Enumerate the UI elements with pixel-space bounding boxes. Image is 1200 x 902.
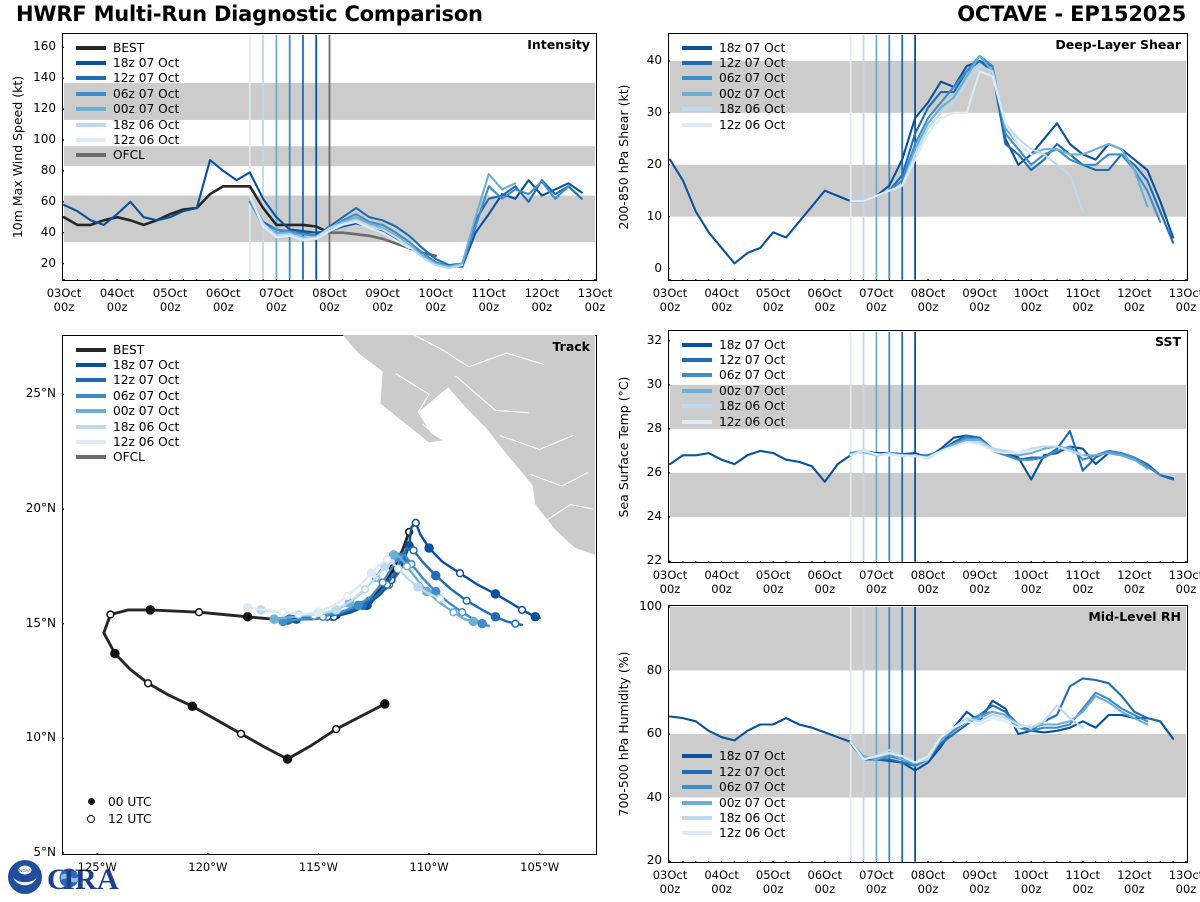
x-tick-label: 13Oct00z bbox=[1156, 286, 1200, 315]
y-tick-label: 40 bbox=[614, 53, 662, 67]
panel-shear[interactable]: Deep-Layer Shear18z 07 Oct12z 07 Oct06z … bbox=[668, 33, 1188, 281]
legend-label: 12z 07 Oct bbox=[113, 71, 179, 85]
legend-label: 18z 06 Oct bbox=[719, 102, 785, 116]
legend-color-swatch bbox=[76, 153, 106, 157]
track-point-00utc bbox=[146, 606, 154, 614]
track-point-12utc bbox=[437, 595, 444, 602]
legend-item[interactable]: 12z 07 Oct bbox=[682, 55, 785, 70]
legend-item[interactable]: BEST bbox=[76, 40, 179, 55]
x-tick-label: 115°W bbox=[288, 860, 348, 874]
legend-item[interactable]: 00z 07 Oct bbox=[682, 383, 785, 398]
x-tick-label: 03Oct00z bbox=[34, 286, 94, 315]
x-tick-label: 12Oct00z bbox=[512, 286, 572, 315]
legend-label: 18z 07 Oct bbox=[719, 749, 785, 763]
legend-item[interactable]: 12z 07 Oct bbox=[76, 373, 179, 388]
y-tick-label: 160 bbox=[8, 39, 56, 53]
legend-color-swatch bbox=[682, 754, 712, 758]
panel-sst[interactable]: SST18z 07 Oct12z 07 Oct06z 07 Oct00z 07 … bbox=[668, 330, 1188, 563]
legend-label: 12z 07 Oct bbox=[719, 56, 785, 70]
legend-label: 12z 06 Oct bbox=[719, 118, 785, 132]
legend-label: 12z 06 Oct bbox=[113, 133, 179, 147]
legend-color-swatch bbox=[76, 455, 106, 459]
legend-item[interactable]: 12z 06 Oct bbox=[76, 132, 179, 147]
track-point-12utc bbox=[459, 609, 466, 616]
track-point-00utc bbox=[491, 613, 499, 621]
legend-item[interactable]: 18z 06 Oct bbox=[76, 419, 179, 434]
legend-color-swatch bbox=[682, 123, 712, 127]
legend-color-swatch bbox=[76, 425, 106, 429]
x-tick-label: 08Oct00z bbox=[300, 286, 360, 315]
legend[interactable]: BEST18z 07 Oct12z 07 Oct06z 07 Oct00z 07… bbox=[76, 342, 179, 465]
legend-color-swatch bbox=[76, 76, 106, 80]
track-point-12utc bbox=[457, 570, 464, 577]
legend[interactable]: 18z 07 Oct12z 07 Oct06z 07 Oct00z 07 Oct… bbox=[682, 40, 785, 132]
track-point-00utc bbox=[390, 551, 398, 559]
legend-color-swatch bbox=[76, 348, 106, 352]
y-axis-label: 200-850 hPa Shear (kt) bbox=[616, 85, 631, 230]
legend-item[interactable]: 00z 07 Oct bbox=[682, 795, 785, 810]
track-point-00utc bbox=[332, 606, 340, 614]
legend-item[interactable]: OFCL bbox=[76, 450, 179, 465]
legend-item[interactable]: 12z 07 Oct bbox=[76, 71, 179, 86]
track-point-00utc bbox=[283, 755, 291, 763]
legend-color-swatch bbox=[76, 363, 106, 367]
track-point-00utc bbox=[478, 620, 486, 628]
track-point-12utc bbox=[333, 726, 340, 733]
panel-title: Deep-Layer Shear bbox=[1055, 37, 1181, 52]
legend-color-swatch bbox=[682, 420, 712, 424]
y-axis-label: 700-500 hPa Humidity (%) bbox=[616, 651, 631, 816]
track-point-12utc bbox=[384, 556, 391, 563]
legend-item[interactable]: 12z 07 Oct bbox=[682, 352, 785, 367]
legend-item[interactable]: 18z 07 Oct bbox=[682, 337, 785, 352]
legend-item[interactable]: 06z 07 Oct bbox=[682, 779, 785, 794]
track-line bbox=[248, 560, 394, 615]
storm-id-title: OCTAVE - EP152025 bbox=[957, 2, 1186, 26]
legend-label: OFCL bbox=[113, 148, 145, 162]
track-point-12utc bbox=[512, 620, 519, 627]
legend-label: 00z 07 Oct bbox=[719, 384, 785, 398]
legend-color-swatch bbox=[682, 404, 712, 408]
value-band bbox=[670, 165, 1186, 217]
track-point-00utc bbox=[111, 649, 119, 657]
legend-item[interactable]: 06z 07 Oct bbox=[76, 86, 179, 101]
legend-color-swatch bbox=[76, 394, 106, 398]
x-tick-label: 11Oct00z bbox=[459, 286, 519, 315]
track-point-12utc bbox=[379, 579, 386, 586]
marker-legend-item: 12 UTC bbox=[80, 810, 152, 827]
legend-color-swatch bbox=[76, 409, 106, 413]
basemap-landmass bbox=[270, 335, 595, 555]
legend-item[interactable]: 12z 06 Oct bbox=[682, 117, 785, 132]
legend-item[interactable]: 00z 07 Oct bbox=[76, 404, 179, 419]
y-tick-label: 100 bbox=[614, 599, 662, 613]
panel-title: SST bbox=[1155, 334, 1181, 349]
legend-label: 12z 07 Oct bbox=[719, 353, 785, 367]
track-point-00utc bbox=[414, 583, 422, 591]
page-title: HWRF Multi-Run Diagnostic Comparison bbox=[16, 2, 483, 26]
legend-label: 18z 06 Oct bbox=[719, 811, 785, 825]
legend-color-swatch bbox=[682, 373, 712, 377]
track-point-00utc bbox=[354, 601, 362, 609]
legend-item[interactable]: 18z 06 Oct bbox=[682, 810, 785, 825]
legend-label: BEST bbox=[113, 343, 144, 357]
legend-item[interactable]: 06z 07 Oct bbox=[76, 388, 179, 403]
x-tick-label: 05Oct00z bbox=[140, 286, 200, 315]
legend-color-swatch bbox=[76, 107, 106, 111]
y-axis-label: Sea Surface Temp (°C) bbox=[616, 376, 631, 517]
x-tick-label: 06Oct00z bbox=[193, 286, 253, 315]
marker-legend-label: 00 UTC bbox=[108, 795, 152, 809]
legend-item[interactable]: 12z 06 Oct bbox=[682, 826, 785, 841]
legend-item[interactable]: 18z 07 Oct bbox=[76, 357, 179, 372]
panel-title: Track bbox=[553, 339, 590, 354]
legend-item[interactable]: 18z 06 Oct bbox=[76, 117, 179, 132]
legend-color-swatch bbox=[682, 389, 712, 393]
x-tick-label: 10Oct00z bbox=[406, 286, 466, 315]
track-point-12utc bbox=[238, 730, 245, 737]
track-point-12utc bbox=[362, 586, 369, 593]
track-point-12utc bbox=[410, 547, 417, 554]
legend-color-swatch bbox=[682, 76, 712, 80]
legend-label: 12z 07 Oct bbox=[719, 765, 785, 779]
legend-item[interactable]: 18z 07 Oct bbox=[682, 40, 785, 55]
legend-item[interactable]: BEST bbox=[76, 342, 179, 357]
legend-label: 00z 07 Oct bbox=[719, 87, 785, 101]
x-tick-label: 07Oct00z bbox=[246, 286, 306, 315]
x-tick-label: 110°W bbox=[399, 860, 459, 874]
y-tick-label: 32 bbox=[614, 333, 662, 347]
legend-item[interactable]: 06z 07 Oct bbox=[682, 368, 785, 383]
marker-legend-label: 12 UTC bbox=[108, 812, 152, 826]
track-point-00utc bbox=[244, 604, 252, 612]
x-tick-label: 13Oct00z bbox=[565, 286, 625, 315]
panel-title: Intensity bbox=[527, 37, 590, 52]
legend-color-swatch bbox=[76, 440, 106, 444]
track-point-00utc bbox=[188, 702, 196, 710]
legend-label: 18z 07 Oct bbox=[113, 56, 179, 70]
x-tick-label: 13Oct00z bbox=[1156, 868, 1200, 897]
track-point-00utc bbox=[425, 544, 433, 552]
track-point-00utc bbox=[314, 608, 322, 616]
legend-item[interactable]: 12z 07 Oct bbox=[682, 764, 785, 779]
y-tick-label: 22 bbox=[614, 553, 662, 567]
legend-color-swatch bbox=[76, 123, 106, 127]
track-point-00utc bbox=[368, 569, 376, 577]
legend-color-swatch bbox=[682, 92, 712, 96]
track-point-00utc bbox=[244, 613, 252, 621]
legend[interactable]: BEST18z 07 Oct12z 07 Oct06z 07 Oct00z 07… bbox=[76, 40, 179, 163]
track-line bbox=[274, 555, 473, 622]
legend-color-swatch bbox=[682, 61, 712, 65]
y-axis-label: 10m Max Wind Speed (kt) bbox=[10, 76, 25, 238]
track-point-12utc bbox=[107, 611, 114, 618]
x-tick-label: 13Oct00z bbox=[1156, 568, 1200, 597]
svg-text:NOAA: NOAA bbox=[19, 868, 31, 873]
track-point-00utc bbox=[469, 617, 477, 625]
y-tick-label: 20°N bbox=[4, 501, 56, 515]
track-point-12utc bbox=[450, 609, 457, 616]
panel-intensity[interactable]: IntensityBEST18z 07 Oct12z 07 Oct06z 07 … bbox=[62, 33, 597, 281]
x-tick-label: 105°W bbox=[510, 860, 570, 874]
panel-track[interactable]: TrackBEST18z 07 Oct12z 07 Oct06z 07 Oct0… bbox=[62, 335, 597, 855]
legend-label: 00z 07 Oct bbox=[113, 404, 179, 418]
track-line bbox=[104, 532, 409, 759]
legend-label: BEST bbox=[113, 41, 144, 55]
legend-color-swatch bbox=[76, 138, 106, 142]
legend-label: 18z 07 Oct bbox=[719, 338, 785, 352]
legend-color-swatch bbox=[682, 107, 712, 111]
legend-color-swatch bbox=[682, 343, 712, 347]
track-point-12utc bbox=[280, 609, 287, 616]
y-tick-label: 5°N bbox=[4, 845, 56, 859]
filled-circle-icon bbox=[88, 798, 95, 805]
x-tick-label: 09Oct00z bbox=[353, 286, 413, 315]
legend-item[interactable]: 12z 06 Oct bbox=[682, 414, 785, 429]
legend-color-swatch bbox=[682, 358, 712, 362]
value-band bbox=[670, 473, 1186, 517]
page-header: HWRF Multi-Run Diagnostic Comparison OCT… bbox=[0, 0, 1200, 28]
legend-color-swatch bbox=[682, 816, 712, 820]
series-line bbox=[851, 438, 1161, 475]
legend-color-swatch bbox=[76, 92, 106, 96]
track-point-12utc bbox=[344, 593, 351, 600]
legend-color-swatch bbox=[76, 61, 106, 65]
y-tick-label: 15°N bbox=[4, 616, 56, 630]
legend-label: 18z 06 Oct bbox=[719, 399, 785, 413]
legend-color-swatch bbox=[76, 378, 106, 382]
x-tick-label: 120°W bbox=[178, 860, 238, 874]
legend-label: 06z 07 Oct bbox=[719, 368, 785, 382]
legend-item[interactable]: 00z 07 Oct bbox=[76, 102, 179, 117]
legend-label: 06z 07 Oct bbox=[113, 389, 179, 403]
track-point-12utc bbox=[395, 565, 402, 572]
x-tick-label: 04Oct00z bbox=[87, 286, 147, 315]
legend-color-swatch bbox=[682, 46, 712, 50]
track-point-12utc bbox=[463, 597, 470, 604]
track-point-12utc bbox=[412, 519, 419, 526]
track-point-00utc bbox=[381, 700, 389, 708]
legend[interactable]: 18z 07 Oct12z 07 Oct06z 07 Oct00z 07 Oct… bbox=[682, 749, 785, 841]
legend-color-swatch bbox=[682, 785, 712, 789]
open-circle-icon bbox=[87, 815, 95, 823]
legend-item[interactable]: 18z 07 Oct bbox=[682, 749, 785, 764]
noaa-seal-icon: NOAA bbox=[8, 860, 42, 894]
legend-color-swatch bbox=[682, 831, 712, 835]
track-point-00utc bbox=[491, 590, 499, 598]
legend-item[interactable]: 12z 06 Oct bbox=[76, 434, 179, 449]
y-tick-label: 0 bbox=[614, 261, 662, 275]
track-point-12utc bbox=[145, 680, 152, 687]
panel-title: Mid-Level RH bbox=[1088, 609, 1181, 624]
y-tick-label: 20 bbox=[614, 853, 662, 867]
legend-label: 12z 07 Oct bbox=[113, 373, 179, 387]
track-point-12utc bbox=[196, 609, 203, 616]
legend-item[interactable]: 00z 07 Oct bbox=[682, 86, 785, 101]
legend-label: 00z 07 Oct bbox=[113, 102, 179, 116]
legend-color-swatch bbox=[682, 801, 712, 805]
track-point-12utc bbox=[519, 607, 526, 614]
track-point-00utc bbox=[432, 572, 440, 580]
legend-item[interactable]: 06z 07 Oct bbox=[682, 71, 785, 86]
legend-item[interactable]: 18z 06 Oct bbox=[682, 399, 785, 414]
legend-label: 18z 07 Oct bbox=[113, 358, 179, 372]
y-tick-label: 10°N bbox=[4, 730, 56, 744]
legend[interactable]: 18z 07 Oct12z 07 Oct06z 07 Oct00z 07 Oct… bbox=[682, 337, 785, 429]
legend-label: 12z 06 Oct bbox=[113, 435, 179, 449]
y-tick-label: 20 bbox=[8, 256, 56, 270]
legend-label: 06z 07 Oct bbox=[113, 87, 179, 101]
legend-label: 18z 06 Oct bbox=[113, 118, 179, 132]
legend-item[interactable]: 18z 06 Oct bbox=[682, 102, 785, 117]
legend-label: 00z 07 Oct bbox=[719, 796, 785, 810]
legend-label: OFCL bbox=[113, 450, 145, 464]
track-point-00utc bbox=[270, 615, 278, 623]
legend-item[interactable]: OFCL bbox=[76, 148, 179, 163]
legend-label: 18z 06 Oct bbox=[113, 420, 179, 434]
marker-legend-item: 00 UTC bbox=[80, 793, 152, 810]
legend-color-swatch bbox=[682, 770, 712, 774]
legend-label: 12z 06 Oct bbox=[719, 415, 785, 429]
legend-label: 12z 06 Oct bbox=[719, 826, 785, 840]
track-point-12utc bbox=[404, 563, 411, 570]
legend-label: 06z 07 Oct bbox=[719, 71, 785, 85]
y-tick-label: 25°N bbox=[4, 386, 56, 400]
legend-label: 18z 07 Oct bbox=[719, 41, 785, 55]
legend-label: 06z 07 Oct bbox=[719, 780, 785, 794]
track-point-00utc bbox=[531, 613, 539, 621]
x-tick-label: 125°W bbox=[67, 860, 127, 874]
legend-color-swatch bbox=[76, 46, 106, 50]
panel-rh[interactable]: Mid-Level RH18z 07 Oct12z 07 Oct06z 07 O… bbox=[668, 605, 1188, 863]
legend-item[interactable]: 18z 07 Oct bbox=[76, 55, 179, 70]
marker-legend: 00 UTC12 UTC bbox=[80, 793, 152, 827]
